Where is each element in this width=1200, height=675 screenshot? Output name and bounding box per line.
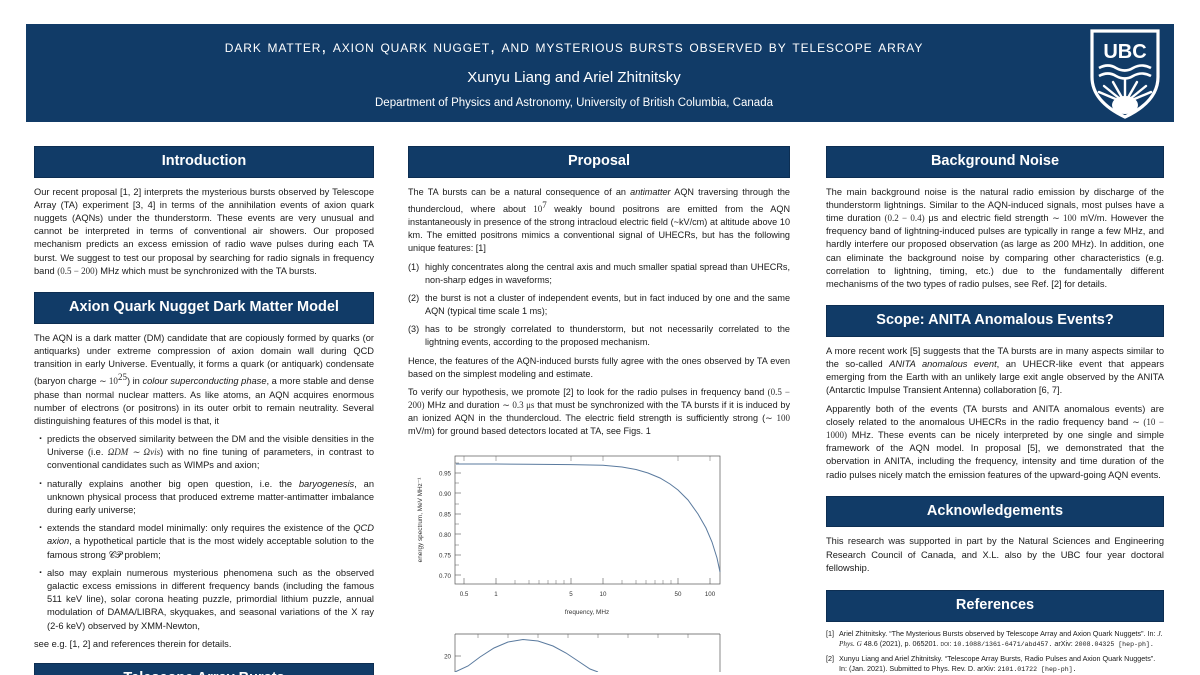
acknowledgements-text: This research was supported in part by t… xyxy=(826,535,1164,575)
affiliation: Department of Physics and Astronomy, Uni… xyxy=(76,97,1072,111)
ref-1-in: In: xyxy=(839,664,847,673)
feature-0-text: highly concentrates along the central ax… xyxy=(425,262,790,285)
introduction-text: Our recent proposal [1, 2] interprets th… xyxy=(34,187,374,276)
ref-0-in: In: xyxy=(1148,629,1156,638)
x-tick-100: 100 xyxy=(705,591,716,598)
column-right: Background Noise The main background noi… xyxy=(826,146,1164,675)
y-tick-0.70: 0.70 xyxy=(439,573,452,580)
list-item: (2) the burst is not a cluster of indepe… xyxy=(408,292,790,318)
aqn-feature-list: predicts the observed similarity between… xyxy=(34,433,374,633)
poster-root: Dark matter, axion quark nugget, and mys… xyxy=(0,0,1200,675)
list-item: predicts the observed similarity between… xyxy=(38,433,374,473)
list-item: also may explain numerous mysterious phe… xyxy=(38,567,374,633)
scope-body: A more recent work [5] suggests that the… xyxy=(826,345,1164,482)
proposal-antimatter-term: antimatter xyxy=(630,187,670,197)
x-tick-50: 50 xyxy=(675,591,682,598)
y-axis-label: energy spectrum, MeV MHz⁻¹ xyxy=(417,477,424,562)
section-heading-background-noise: Background Noise xyxy=(826,146,1164,178)
ref-0-arxiv-label: arXiv: xyxy=(1054,639,1072,648)
x-axis-label: frequency, MHz xyxy=(565,609,609,616)
ref-1-arxiv-label: arXiv: xyxy=(977,664,995,673)
bgnoise-text-b: μs and electric field strength xyxy=(928,213,1048,223)
section-heading-aqn-model: Axion Quark Nugget Dark Matter Model xyxy=(34,292,374,324)
x-tick-1: 1 xyxy=(494,591,498,598)
proposal-intro-a: The TA bursts can be a natural consequen… xyxy=(408,187,626,197)
aqn-phase-term: colour superconducting phase xyxy=(142,376,266,386)
ref-1-arxiv[interactable]: 2101.01722 [hep-ph]. xyxy=(998,666,1077,673)
x-tick-10: 10 xyxy=(600,591,607,598)
ref-1-num: [2] xyxy=(826,654,834,664)
list-item: naturally explains another big open ques… xyxy=(38,478,374,518)
list-item: (3) has to be strongly correlated to thu… xyxy=(408,323,790,349)
ref-1-rest: Submitted to Phys. Rev. D. xyxy=(889,664,975,673)
column-middle: Proposal The TA bursts can be a natural … xyxy=(408,146,790,672)
references-list: [1] Ariel Zhitnitsky. “The Mysterious Bu… xyxy=(826,629,1164,675)
ref-0-doi[interactable]: 10.1088/1361-6471/abd457. xyxy=(953,641,1052,648)
ref-0-title: “The Mysterious Bursts observed by Teles… xyxy=(889,629,1145,638)
introduction-text-tail: MHz which must be synchronized with the … xyxy=(100,266,317,276)
scope-text-c: Apparently both of the events (TA bursts… xyxy=(826,404,1164,427)
feature-1-text: the burst is not a cluster of independen… xyxy=(425,293,790,316)
feature-1-num: (2) xyxy=(408,292,419,305)
ref-1-title: “Telescope Array Bursts, Radio Pulses an… xyxy=(945,654,1156,663)
proposal-verify-b: MHz and duration xyxy=(427,400,499,410)
scope-anita-term: ANITA anomalous event xyxy=(889,359,997,369)
aqn-baryon-exponent: 25 xyxy=(118,372,127,382)
scope-text-d: MHz. These events can be nicely interpre… xyxy=(826,430,1164,480)
ref-0-rest: 48.6 (2021), p. 065201. xyxy=(864,639,939,648)
section-heading-proposal: Proposal xyxy=(408,146,790,178)
proposal-verify-a: To verify our hypothesis, we promote [2]… xyxy=(408,387,764,397)
bullet-2-post: , a hypothetical particle that is the mo… xyxy=(47,536,374,559)
proposal-positron-exponent: 7 xyxy=(542,200,547,210)
section-heading-scope: Scope: ANITA Anomalous Events? xyxy=(826,305,1164,337)
bullet-1-pre: naturally explains another big open ques… xyxy=(47,479,292,489)
bgnoise-text-c: mV/m. However the frequency band of ligh… xyxy=(826,213,1164,289)
section-heading-acknowledgements: Acknowledgements xyxy=(826,496,1164,528)
series-pulse-profile xyxy=(455,639,598,672)
y-tick-0.95: 0.95 xyxy=(439,470,452,477)
y-tick-0.85: 0.85 xyxy=(439,511,452,518)
aqn-closing: see e.g. [1, 2] and references therein f… xyxy=(34,638,374,651)
ubc-logo-text: UBC xyxy=(1103,41,1146,63)
feature-2-num: (3) xyxy=(408,323,419,336)
bullet-3-pre: also may explain numerous mysterious phe… xyxy=(47,568,374,631)
proposal-duration: ∼ 0.3 μs xyxy=(502,400,534,410)
x-tick-5: 5 xyxy=(569,591,573,598)
list-item: [1] Ariel Zhitnitsky. “The Mysterious Bu… xyxy=(826,629,1164,650)
section-heading-references: References xyxy=(826,590,1164,622)
ref-1-journal: (Jan. 2021). xyxy=(849,664,887,673)
list-item: extends the standard model minimally: on… xyxy=(38,522,374,562)
list-item: (1) highly concentrates along the centra… xyxy=(408,261,790,287)
y-tick-20: 20 xyxy=(444,653,451,660)
ref-0-arxiv[interactable]: 2008.04325 [hep-ph]. xyxy=(1075,641,1154,648)
ref-0-authors: Ariel Zhitnitsky. xyxy=(839,629,887,638)
proposal-positron-count: 10 xyxy=(533,204,542,214)
section-heading-ta-bursts: Telescope Array Bursts xyxy=(34,663,374,675)
bgnoise-field: ∼ 100 xyxy=(1052,213,1076,223)
bullet-1-ital: baryogenesis xyxy=(299,479,354,489)
bgnoise-duration: (0.2 − 0.4) xyxy=(884,213,924,223)
proposal-feature-list: (1) highly concentrates along the centra… xyxy=(408,261,790,350)
proposal-body: The TA bursts can be a natural consequen… xyxy=(408,186,790,439)
proposal-hence: Hence, the features of the AQN-induced b… xyxy=(408,355,790,381)
column-left: Introduction Our recent proposal [1, 2] … xyxy=(34,146,374,675)
feature-2-text: has to be strongly correlated to thunder… xyxy=(425,324,790,347)
introduction-range: (0.5 − 200) xyxy=(57,266,97,276)
poster-header: Dark matter, axion quark nugget, and mys… xyxy=(26,24,1174,122)
y-tick-0.80: 0.80 xyxy=(439,532,452,539)
background-noise-body: The main background noise is the natural… xyxy=(826,186,1164,292)
ref-0-num: [1] xyxy=(826,629,834,639)
aqn-model-body: The AQN is a dark matter (DM) candidate … xyxy=(34,332,374,651)
proposal-field-strength: ∼ 100 xyxy=(765,413,790,423)
proposal-verify-d: mV/m) for ground based detectors located… xyxy=(408,426,651,436)
bullet-2-pre: extends the standard model minimally: on… xyxy=(47,523,350,533)
x-tick-0.5: 0.5 xyxy=(460,591,469,598)
bullet-0-math: ΩDM ∼ Ωvis xyxy=(108,447,160,457)
header-text-block: Dark matter, axion quark nugget, and mys… xyxy=(26,36,1082,111)
y-tick-0.90: 0.90 xyxy=(439,491,452,498)
introduction-body: Our recent proposal [1, 2] interprets th… xyxy=(34,186,374,278)
ubc-logo: UBC xyxy=(1082,25,1168,121)
figure-energy-spectrum: 0.95 0.90 0.85 0.80 0.75 0.70 xyxy=(408,448,790,623)
page-title: Dark matter, axion quark nugget, and mys… xyxy=(76,36,1072,57)
ref-0-doi-label: doi: xyxy=(941,639,952,648)
figure-pulse-profile: 20 xyxy=(408,626,790,672)
feature-0-num: (1) xyxy=(408,261,419,274)
series-energy-spectrum xyxy=(456,464,720,572)
acknowledgements-body: This research was supported in part by t… xyxy=(826,535,1164,575)
ref-1-authors: Xunyu Liang and Ariel Zhitnitsky. xyxy=(839,654,943,663)
y-tick-0.75: 0.75 xyxy=(439,552,452,559)
author-list: Xunyu Liang and Ariel Zhitnitsky xyxy=(76,69,1072,87)
chart-energy-spectrum: 0.95 0.90 0.85 0.80 0.75 0.70 xyxy=(408,448,790,623)
aqn-intro-b: ) in xyxy=(127,376,140,386)
aqn-baryon-charge: ∼ 10 xyxy=(99,376,118,386)
section-heading-introduction: Introduction xyxy=(34,146,374,178)
list-item: [2] Xunyu Liang and Ariel Zhitnitsky. “T… xyxy=(826,654,1164,675)
chart-pulse-profile: 20 xyxy=(408,626,790,672)
